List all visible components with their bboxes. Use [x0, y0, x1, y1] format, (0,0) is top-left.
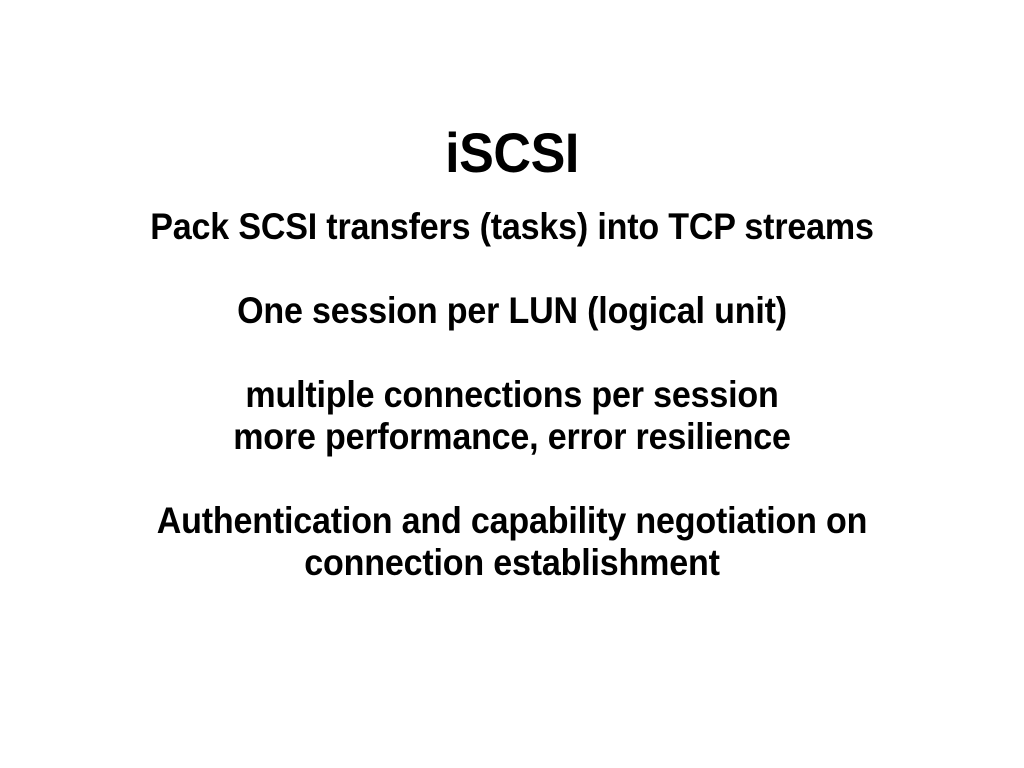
presentation-slide: iSCSI Pack SCSI transfers (tasks) into T… [0, 0, 1024, 768]
page-title: iSCSI [36, 124, 988, 183]
body-line: multiple connections per session [41, 374, 983, 416]
body-line: more performance, error resilience [41, 416, 983, 458]
body-block-4: Authentication and capability negotiatio… [41, 500, 983, 584]
body-block-3: multiple connections per session more pe… [41, 374, 983, 458]
body-block-2: One session per LUN (logical unit) [41, 290, 983, 332]
body-block-1: Pack SCSI transfers (tasks) into TCP str… [41, 206, 983, 248]
body-line: connection establishment [41, 542, 983, 584]
body-line: One session per LUN (logical unit) [41, 290, 983, 332]
body-line: Pack SCSI transfers (tasks) into TCP str… [41, 206, 983, 248]
slide-body: Pack SCSI transfers (tasks) into TCP str… [0, 206, 1024, 584]
body-line: Authentication and capability negotiatio… [41, 500, 983, 542]
